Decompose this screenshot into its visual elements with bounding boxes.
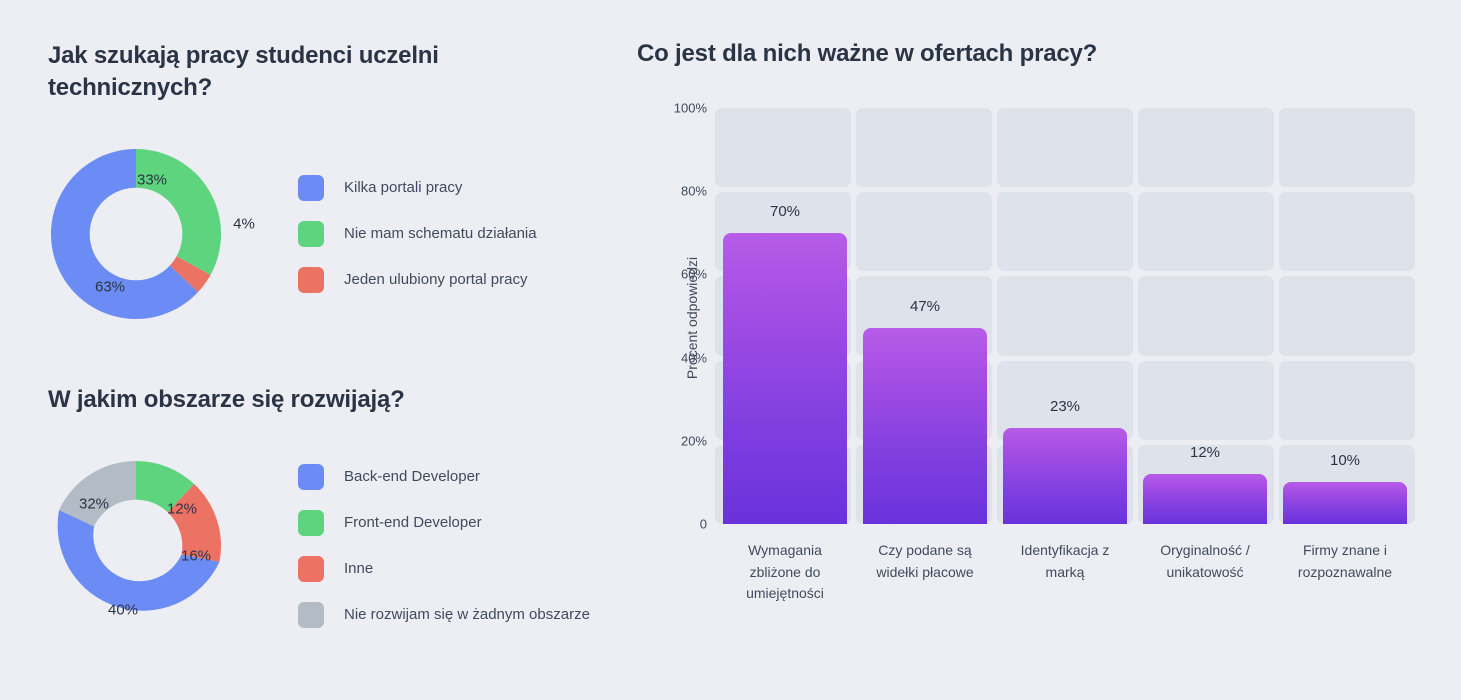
y-tick-label: 100% (674, 101, 707, 116)
donut-label-12: 12% (167, 500, 197, 517)
donut-label-16: 16% (181, 547, 211, 564)
legend-label: Nie mam schematu działania (344, 225, 537, 242)
legend-item-kilka-portali[interactable]: Kilka portali pracy (298, 165, 537, 211)
plot-area: 70% 47% 23% 12% (715, 108, 1415, 524)
legend-swatch-icon-blue (298, 175, 324, 201)
donut-label-40: 40% (108, 601, 138, 618)
bar-column: 10% (1275, 108, 1415, 524)
bar-value-label: 70% (770, 203, 800, 220)
legend-swatch-icon-gray (298, 602, 324, 628)
donut-chart-job-search: 33% 4% 63% (48, 146, 224, 322)
legend-item-nie-rozwijam[interactable]: Nie rozwijam się w żadnym obszarze (298, 592, 590, 638)
bar-value-label: 10% (1330, 452, 1360, 469)
bar-column: 47% (855, 108, 995, 524)
donut-chart-development: 12% 16% 40% 32% (48, 458, 224, 634)
legend-label: Nie rozwijam się w żadnym obszarze (344, 606, 590, 623)
bar-column: 12% (1135, 108, 1275, 524)
legend-swatch-icon-red (298, 267, 324, 293)
y-tick-label: 20% (681, 433, 707, 448)
legend-label: Kilka portali pracy (344, 179, 462, 196)
legend-label: Inne (344, 560, 373, 577)
right-column: Co jest dla nich ważne w ofertach pracy?… (637, 40, 1427, 528)
legend-swatch-icon-red (298, 556, 324, 582)
legend-label: Jeden ulubiony portal pracy (344, 271, 527, 288)
donut-label-32: 32% (79, 495, 109, 512)
donut-slice-nie-mam-schematu[interactable] (136, 149, 221, 275)
legend-label: Front-end Developer (344, 514, 482, 531)
y-tick-label: 80% (681, 184, 707, 199)
legend-swatch-icon-blue (298, 464, 324, 490)
bar-identyfikacja[interactable]: 23% (1003, 428, 1126, 524)
x-axis-labels: Wymagania zbliżone do umiejętności Czy p… (715, 540, 1415, 605)
legend-job-search: Kilka portali pracy Nie mam schematu dzi… (298, 165, 537, 303)
legend-development: Back-end Developer Front-end Developer I… (298, 454, 590, 638)
x-axis-label: Oryginalność / unikatowość (1135, 540, 1275, 605)
legend-swatch-icon-green (298, 510, 324, 536)
bar-oryginalnosc[interactable]: 12% (1143, 474, 1266, 524)
y-tick-label: 40% (681, 350, 707, 365)
donut-chart-development-block: 12% 16% 40% 32% Back-end Developer Front… (48, 454, 618, 638)
x-axis-label: Identyfikacja z marką (995, 540, 1135, 605)
donut-label-63: 63% (95, 278, 125, 295)
x-axis-label: Firmy znane i rozpoznawalne (1275, 540, 1415, 605)
bar-series: 70% 47% 23% 12% (715, 108, 1415, 524)
bar-wymagania[interactable]: 70% (723, 233, 846, 524)
legend-item-jeden-ulubiony[interactable]: Jeden ulubiony portal pracy (298, 257, 537, 303)
bar-value-label: 12% (1190, 444, 1220, 461)
x-axis-label: Czy podane są widełki płacowe (855, 540, 995, 605)
bar-widelki[interactable]: 47% (863, 328, 986, 524)
bar-value-label: 23% (1050, 398, 1080, 415)
bar-chart: Procent odpowiedzi 100% 80% 60% 40% 20% … (637, 108, 1427, 528)
section-title-job-search: Jak szukają pracy studenci uczelni techn… (48, 40, 528, 104)
y-axis-ticks: 100% 80% 60% 40% 20% 0 (659, 108, 707, 524)
legend-item-front-end[interactable]: Front-end Developer (298, 500, 590, 546)
legend-item-nie-mam-schematu[interactable]: Nie mam schematu działania (298, 211, 537, 257)
bar-column: 23% (995, 108, 1135, 524)
y-tick-label: 60% (681, 267, 707, 282)
bar-value-label: 47% (910, 298, 940, 315)
x-axis-label: Wymagania zbliżone do umiejętności (715, 540, 855, 605)
section-title-development-area: W jakim obszarze się rozwijają? (48, 384, 528, 416)
donut-label-33: 33% (137, 171, 167, 188)
legend-swatch-icon-green (298, 221, 324, 247)
bar-firmy-znane[interactable]: 10% (1283, 482, 1406, 524)
legend-label: Back-end Developer (344, 468, 480, 485)
donut-chart-job-search-block: 33% 4% 63% Kilka portali pracy Nie mam s… (48, 146, 618, 322)
left-column: Jak szukają pracy studenci uczelni techn… (48, 40, 618, 638)
bar-column: 70% (715, 108, 855, 524)
legend-item-back-end[interactable]: Back-end Developer (298, 454, 590, 500)
y-tick-label: 0 (700, 517, 707, 532)
donut-label-4: 4% (233, 215, 255, 232)
bar-chart-title: Co jest dla nich ważne w ofertach pracy? (637, 40, 1427, 68)
legend-item-inne[interactable]: Inne (298, 546, 590, 592)
